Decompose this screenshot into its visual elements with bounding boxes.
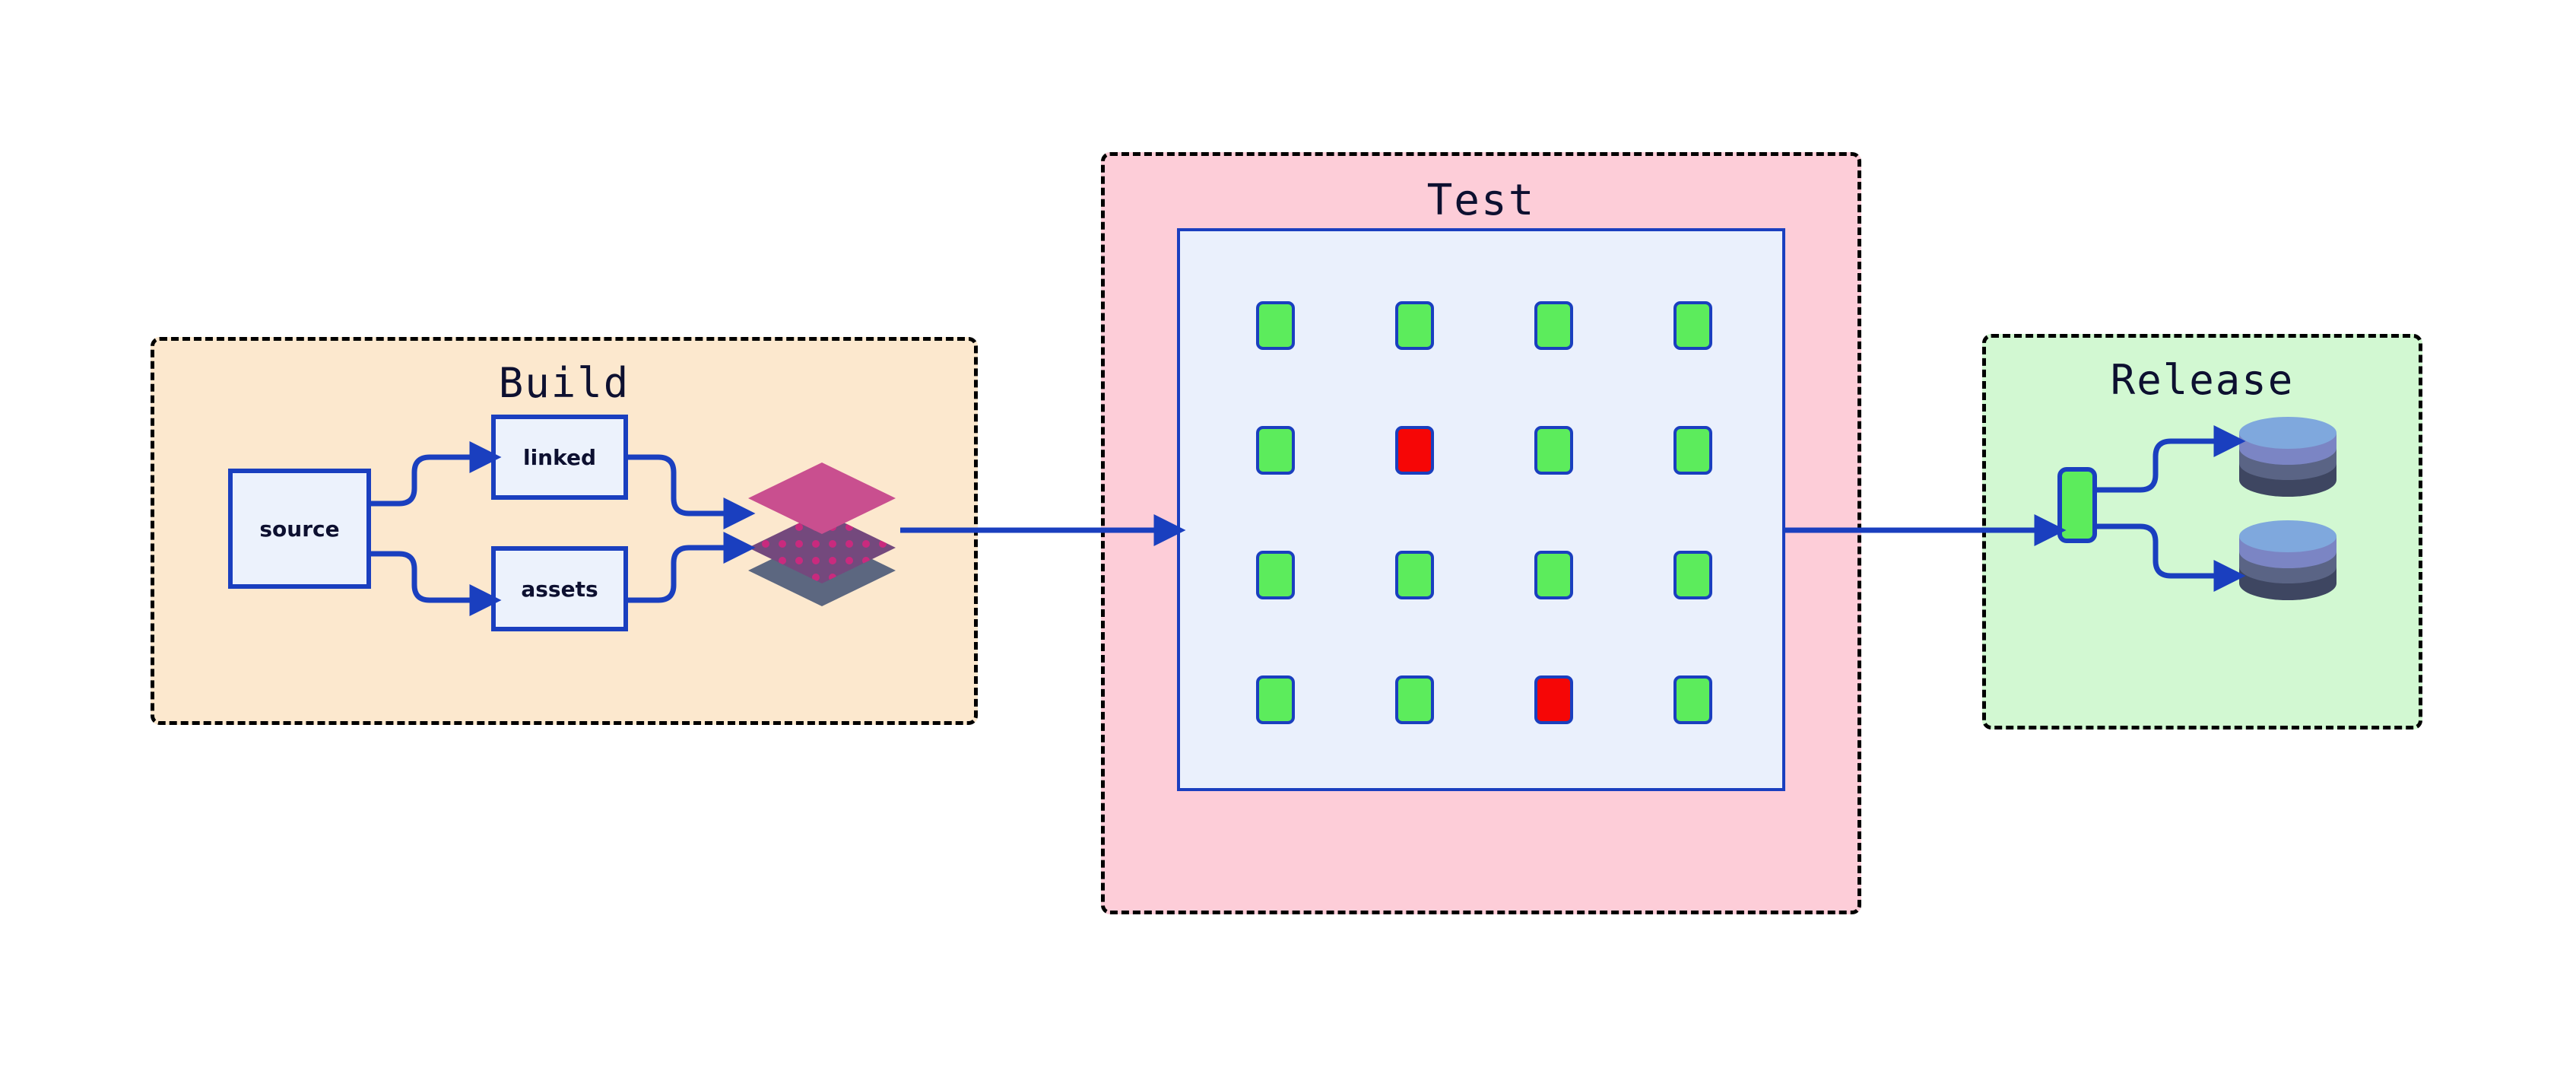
test-cell-pass[interactable]	[1395, 551, 1434, 599]
test-cell-pass[interactable]	[1673, 426, 1712, 475]
node-assets[interactable]: assets	[491, 546, 628, 631]
release-stage-container[interactable]: Release	[1982, 334, 2422, 729]
test-cell-pass[interactable]	[1256, 551, 1295, 599]
test-cell-pass[interactable]	[1673, 301, 1712, 350]
diagram-canvas: Build source linked assets	[0, 0, 2576, 1068]
test-suite-panel[interactable]	[1177, 228, 1785, 791]
test-cell-pass[interactable]	[1395, 675, 1434, 724]
test-cell-fail[interactable]	[1534, 675, 1573, 724]
test-cell-pass[interactable]	[1256, 426, 1295, 475]
node-source-label: source	[259, 517, 339, 542]
test-cell-pass[interactable]	[1673, 675, 1712, 724]
node-linked-label: linked	[523, 445, 596, 470]
release-stage-title: Release	[1986, 356, 2419, 404]
test-cell-pass[interactable]	[1256, 301, 1295, 350]
database-icon[interactable]	[2238, 416, 2338, 497]
test-result-grid	[1233, 294, 1735, 732]
node-linked[interactable]: linked	[491, 415, 628, 500]
database-icon[interactable]	[2238, 520, 2338, 600]
test-cell-pass[interactable]	[1534, 426, 1573, 475]
test-cell-pass[interactable]	[1673, 551, 1712, 599]
test-stage-title: Test	[1105, 176, 1857, 225]
node-assets-label: assets	[521, 577, 598, 602]
test-cell-pass[interactable]	[1534, 301, 1573, 350]
test-cell-pass[interactable]	[1395, 301, 1434, 350]
test-cell-pass[interactable]	[1256, 675, 1295, 724]
test-cell-pass[interactable]	[1534, 551, 1573, 599]
test-cell-fail[interactable]	[1395, 426, 1434, 475]
build-stage-title: Build	[154, 359, 974, 407]
node-source[interactable]: source	[228, 469, 371, 589]
layer-stack-icon[interactable]	[744, 455, 900, 607]
release-bundle-icon[interactable]	[2057, 467, 2097, 543]
